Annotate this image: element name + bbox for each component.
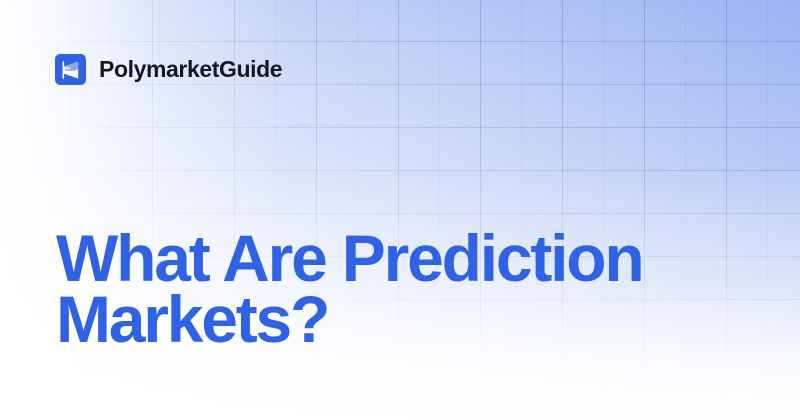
brand-name: PolymarketGuide [99, 58, 282, 81]
svg-text:GUIDE: GUIDE [65, 68, 76, 72]
brand-lockup[interactable]: GUIDE PolymarketGuide [55, 54, 282, 85]
flag-banner-icon: GUIDE [55, 54, 86, 85]
page-title: What Are Prediction Markets? [56, 228, 716, 349]
hero-banner: GUIDE PolymarketGuide What Are Predictio… [0, 0, 800, 420]
